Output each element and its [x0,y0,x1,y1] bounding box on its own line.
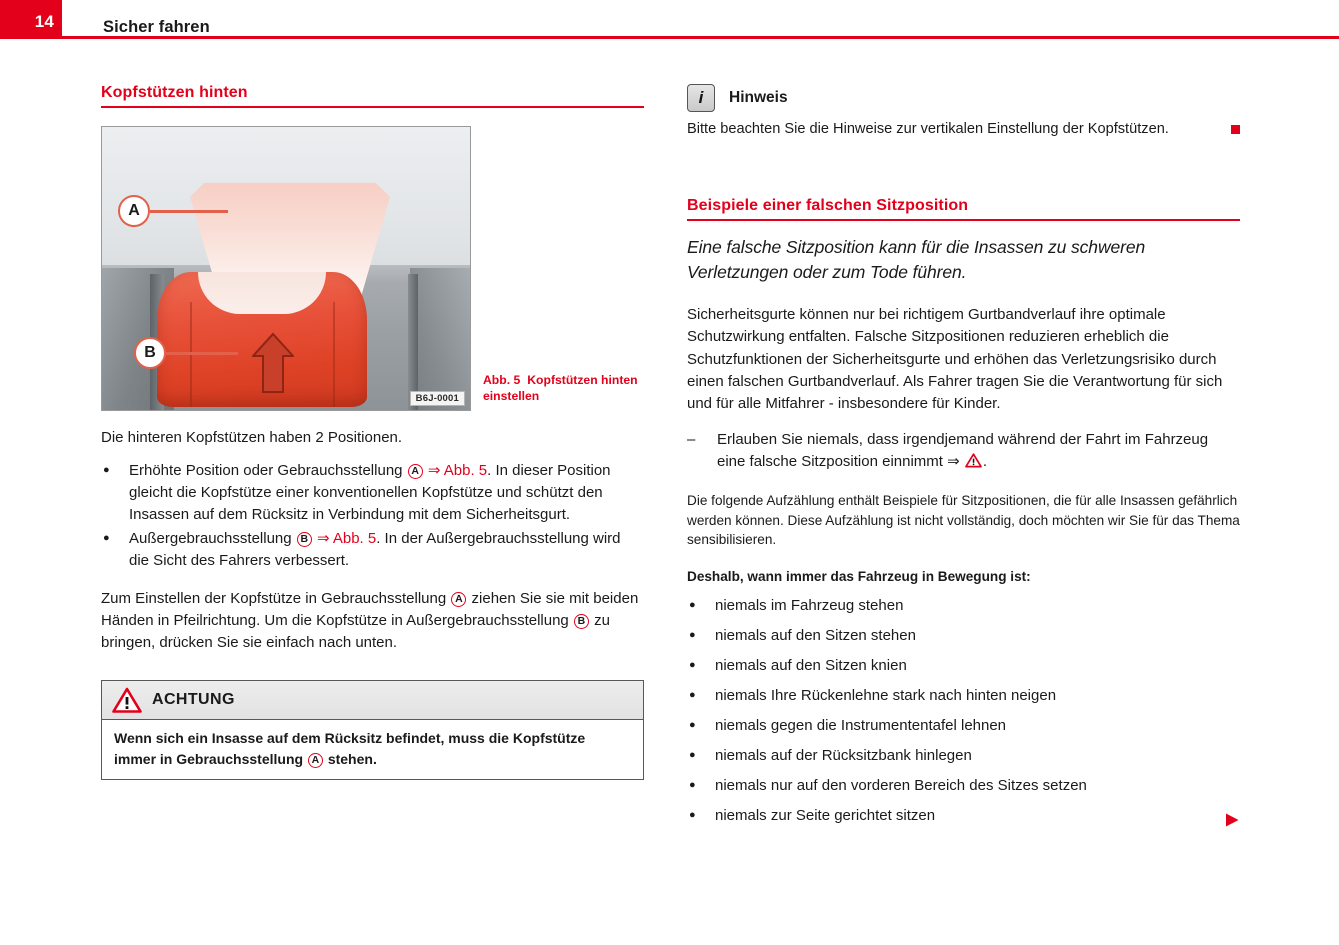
right-column: i Hinweis Bitte beachten Sie die Hinweis… [687,84,1240,828]
intro-paragraph: Die hinteren Kopfstützen haben 2 Positio… [101,427,644,449]
list-item-text: niemals zur Seite gerichtet sitzen [715,805,1240,827]
figure-id-label: B6J-0001 [410,391,465,406]
bullet-dot-icon: ● [687,625,715,647]
list-item: ● Außergebrauchsstellung B ⇒ Abb. 5. In … [101,528,644,572]
bullet-dot-icon: ● [687,685,715,707]
bullet-text-part1: Außergebrauchsstellung [129,530,296,547]
warning-box-header: ACHTUNG [102,681,643,720]
callout-a-leader [150,210,228,213]
figure-image: A B B6J-0001 [101,126,471,411]
list-item-text: Erhöhte Position oder Gebrauchsstellung … [129,460,644,526]
figure-caption: Abb. 5Kopfstützen hinten einstellen [483,372,643,404]
warning-text-part2: stehen. [324,751,377,767]
continue-arrow-icon [1224,812,1240,828]
page-number: 14 [35,12,54,32]
bullet-dot-icon: ● [101,460,129,526]
page-header: 14 Sicher fahren [0,0,1339,42]
warning-triangle-icon [112,687,142,713]
bullet-dot-icon: ● [687,715,715,737]
info-icon: i [687,84,715,112]
list-item-text: niemals nur auf den vorderen Bereich des… [715,775,1240,797]
list-item: ● Erhöhte Position oder Gebrauchsstellun… [101,460,644,526]
list-item: ● niemals im Fahrzeug stehen [687,595,1240,617]
callout-a-label: A [118,195,150,227]
warning-text: Wenn sich ein Insasse auf dem Rücksitz b… [102,720,643,779]
bullet-dot-icon: ● [687,655,715,677]
chapter-title: Sicher fahren [103,18,210,37]
list-intro: Deshalb, wann immer das Fahrzeug in Bewe… [687,567,1240,587]
figure-reference: ⇒ Abb. 5 [428,462,487,479]
figure-seat-gap-right [408,274,418,410]
warning-box: ACHTUNG Wenn sich ein Insasse auf dem Rü… [101,680,644,780]
header-rule [0,36,1339,39]
list-item-text: niemals Ihre Rückenlehne stark nach hint… [715,685,1240,707]
headrest-seam-right [333,302,335,407]
section-heading-rule [687,219,1240,221]
inline-badge-b: B [297,532,312,547]
up-arrow-icon [252,332,294,394]
list-item-text: niemals auf den Sitzen knien [715,655,1240,677]
list-item-text: niemals auf den Sitzen stehen [715,625,1240,647]
inline-badge-b: B [574,614,589,629]
figure-block: A B B6J-0001 Abb. 5Kopfstützen hinten ei… [101,126,471,411]
dash-marker: – [687,429,717,473]
body-paragraph-2: Die folgende Aufzählung enthält Beispiel… [687,491,1240,551]
figure-caption-label: Abb. 5 [483,373,520,387]
left-column: Kopfstützen hinten A B [101,84,644,780]
list-item-text: niemals auf der Rücksitzbank hinlegen [715,745,1240,767]
instruction-part1: Zum Einstellen der Kopfstütze in Gebrauc… [101,590,450,607]
list-item-text: Außergebrauchsstellung B ⇒ Abb. 5. In de… [129,528,644,572]
section-heading-beispiele: Beispiele einer falschen Sitzposition [687,197,1240,219]
section-heading-rule [101,106,644,108]
end-of-section-marker [1231,125,1240,134]
info-icon-glyph: i [699,88,704,108]
list-item-text: niemals im Fahrzeug stehen [715,595,1240,617]
figure-seat-right [410,268,470,410]
figure-reference: ⇒ Abb. 5 [317,530,376,547]
inline-badge-a: A [308,753,323,768]
page-number-block: 14 [0,0,62,36]
inline-badge-a: A [451,592,466,607]
bullet-dot-icon: ● [687,805,715,827]
list-item: ● niemals auf den Sitzen knien [687,655,1240,677]
warning-title: ACHTUNG [152,691,235,709]
bullet-dot-icon: ● [101,528,129,572]
bullet-dot-icon: ● [687,775,715,797]
dash-text-part2: . [983,453,987,470]
never-do-list: ● niemals im Fahrzeug stehen ● niemals a… [687,595,1240,827]
list-item: ● niemals gegen die Instrumententafel le… [687,715,1240,737]
note-text-content: Bitte beachten Sie die Hinweise zur vert… [687,121,1169,137]
note-header: i Hinweis [687,84,1240,112]
callout-b: B [134,337,168,371]
list-item: ● niemals nur auf den vorderen Bereich d… [687,775,1240,797]
list-item: ● niemals zur Seite gerichtet sitzen [687,805,1240,827]
section-heading-block: Beispiele einer falschen Sitzposition [687,197,1240,221]
bullet-dot-icon: ● [687,595,715,617]
lead-paragraph: Eine falsche Sitzposition kann für die I… [687,235,1240,285]
section-heading-kopfstuetzen: Kopfstützen hinten [101,84,644,106]
warning-triangle-icon [965,453,982,468]
dash-text-part1: Erlauben Sie niemals, dass irgendjemand … [717,431,1208,470]
note-text: Bitte beachten Sie die Hinweise zur vert… [687,119,1240,140]
dash-list-item-text: Erlauben Sie niemals, dass irgendjemand … [717,429,1240,473]
bullet-text-part1: Erhöhte Position oder Gebrauchsstellung [129,462,407,479]
body-paragraph-1: Sicherheitsgurte können nur bei richtige… [687,304,1240,414]
instruction-paragraph: Zum Einstellen der Kopfstütze in Gebrauc… [101,588,644,654]
list-item-text: niemals gegen die Instrumententafel lehn… [715,715,1240,737]
callout-b-leader [166,352,238,355]
list-item: ● niemals auf der Rücksitzbank hinlegen [687,745,1240,767]
dash-list-item: – Erlauben Sie niemals, dass irgendjeman… [687,429,1240,473]
inline-badge-a: A [408,464,423,479]
callout-a: A [118,195,152,229]
bullet-dot-icon: ● [687,745,715,767]
note-title: Hinweis [729,89,788,107]
list-item: ● niemals auf den Sitzen stehen [687,625,1240,647]
callout-b-label: B [134,337,166,369]
list-item: ● niemals Ihre Rückenlehne stark nach hi… [687,685,1240,707]
